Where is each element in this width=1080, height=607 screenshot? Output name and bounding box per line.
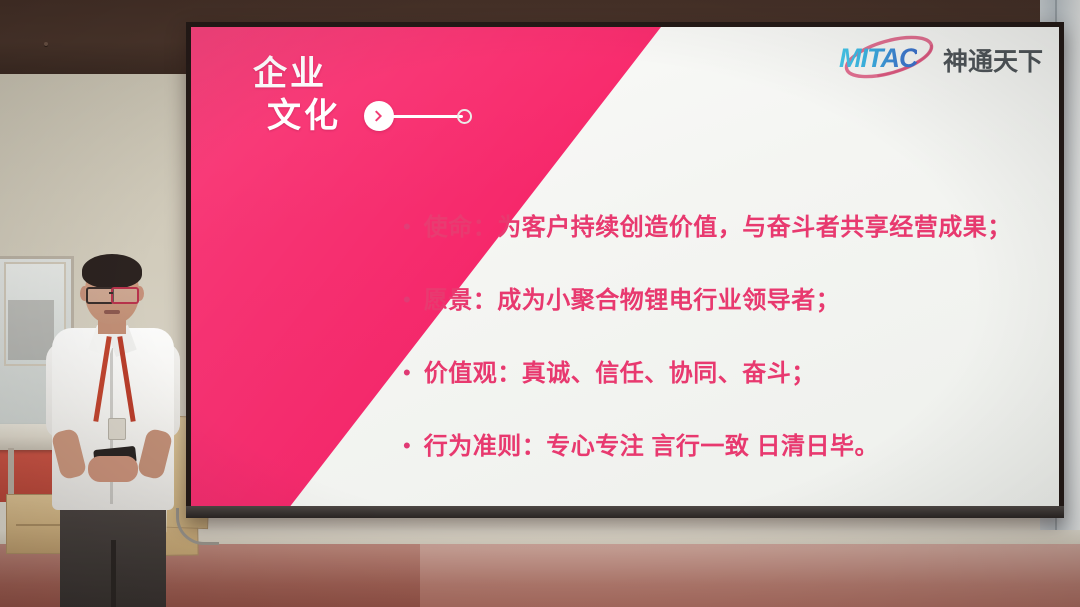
bullet-marker: • <box>403 212 411 242</box>
bullet-marker: • <box>403 285 411 315</box>
bullet-marker: • <box>403 431 411 461</box>
company-logo: MITAC 神通天下 <box>835 35 1043 79</box>
presenter-glasses-left <box>86 287 114 304</box>
slide-title: 企业 文化 <box>253 53 341 137</box>
slide-surface: 企业 文化 MITAC 神通天下 <box>191 27 1059 513</box>
presenter-hands <box>88 456 138 482</box>
list-item: • 行为准则：专心专注 言行一致 日清日毕。 <box>403 432 1045 462</box>
title-connector-dot <box>457 109 472 124</box>
presentation-scene: 企业 文化 MITAC 神通天下 <box>0 0 1080 607</box>
bullet-text: 行为准则：专心专注 言行一致 日清日毕。 <box>424 432 879 462</box>
display-screen[interactable]: 企业 文化 MITAC 神通天下 <box>186 22 1064 518</box>
presenter-badge <box>108 418 126 440</box>
bullet-text: 愿景：成为小聚合物锂电行业领导者； <box>424 286 841 316</box>
slide-bullet-list: • 使命：为客户持续创造价值，与奋斗者共享经营成果； • 愿景：成为小聚合物锂电… <box>403 213 1045 505</box>
slide-title-line2: 文化 <box>253 95 341 137</box>
display-bottom-bezel <box>186 506 1064 518</box>
presenter-hair <box>82 254 142 288</box>
bullet-marker: • <box>403 358 411 388</box>
logo-mark: MITAC <box>835 35 943 79</box>
ceiling-screw <box>44 42 48 46</box>
logo-chinese-text: 神通天下 <box>943 42 1043 78</box>
bullet-text: 使命：为客户持续创造价值，与奋斗者共享经营成果； <box>424 213 1012 243</box>
list-item: • 使命：为客户持续创造价值，与奋斗者共享经营成果； <box>403 213 1045 243</box>
presenter-leg-seam <box>111 540 116 607</box>
presenter <box>42 250 182 607</box>
list-item: • 价值观：真诚、信任、协同、奋斗； <box>403 359 1045 389</box>
title-connector-line <box>391 115 463 118</box>
logo-latin-text: MITAC <box>839 43 917 74</box>
list-item: • 愿景：成为小聚合物锂电行业领导者； <box>403 286 1045 316</box>
slide-title-line1: 企业 <box>253 53 341 95</box>
presenter-mouth <box>104 310 120 314</box>
presenter-glasses-bridge <box>109 292 113 294</box>
bullet-text: 价值观：真诚、信任、协同、奋斗； <box>424 359 816 389</box>
chevron-right-icon <box>364 101 394 131</box>
presenter-glasses-right <box>111 287 139 304</box>
